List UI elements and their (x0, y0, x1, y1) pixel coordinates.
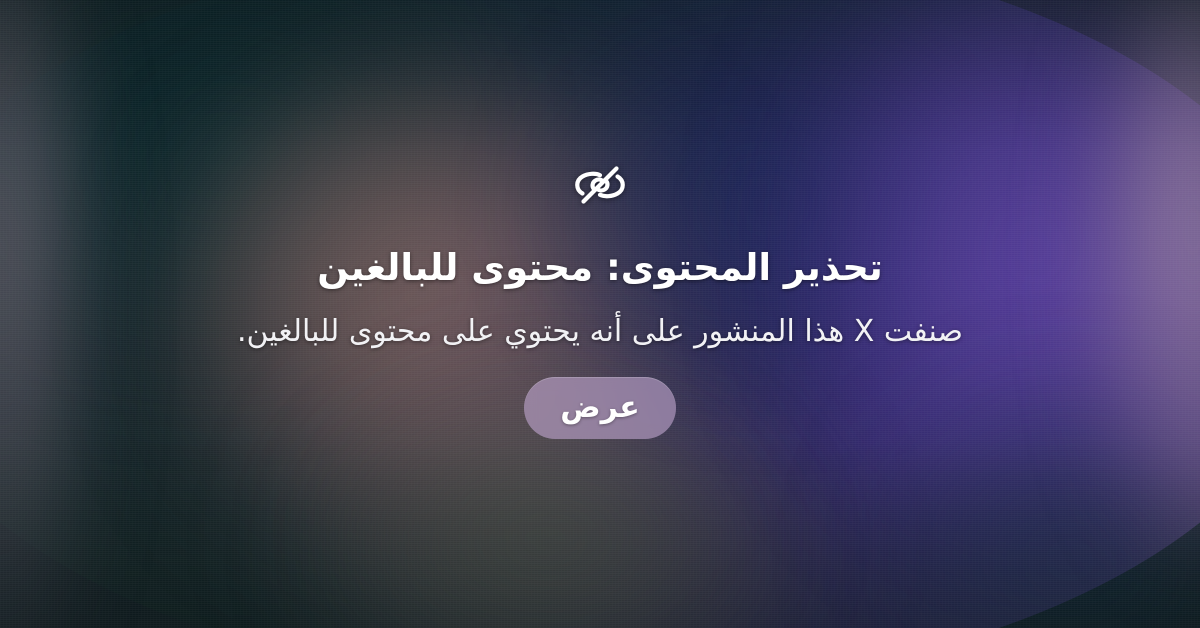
content-warning-description: صنفت X هذا المنشور على أنه يحتوي على محت… (237, 312, 963, 351)
eye-off-icon (567, 152, 633, 218)
content-warning-title: تحذير المحتوى: محتوى للبالغين (317, 246, 883, 290)
view-button[interactable]: عرض (524, 377, 676, 439)
content-warning-overlay: تحذير المحتوى: محتوى للبالغين صنفت X هذا… (0, 0, 1200, 628)
